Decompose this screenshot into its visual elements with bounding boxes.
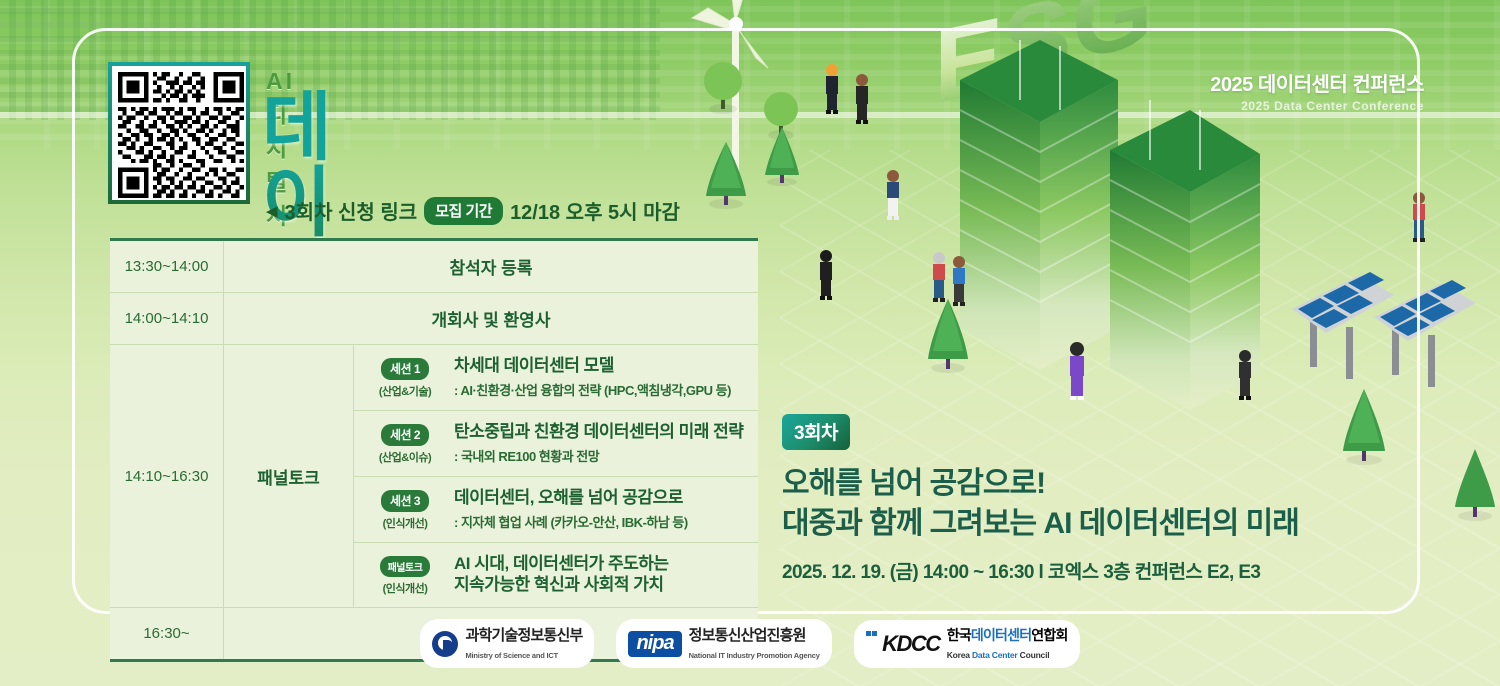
event-headline: 오해를 넘어 공감으로! 대중과 함께 그려보는 AI 데이터센터의 미래 <box>782 464 1299 543</box>
svg-text:E: E <box>934 0 1003 126</box>
session-category: (산업&이슈) <box>366 449 444 465</box>
session-item: 세션 3 (인식개선) 데이터센터, 오해를 넘어 공감으로 : 지자체 협업 … <box>354 477 758 543</box>
round-badge: 3회차 <box>782 414 850 450</box>
logo-ministry-of-science-and-ict: 과학기술정보통신부 Ministry of Science and ICT <box>420 619 594 668</box>
logo-kdcc: KDCC 한국데이터센터연합회 Korea Data Center Counci… <box>854 620 1080 668</box>
person-figure <box>946 254 972 308</box>
event-date-venue: 2025. 12. 19. (금) 14:00 ~ 16:30 l 코엑스 3층… <box>782 557 1299 584</box>
conference-title-block: 2025 데이터센터 컨퍼런스 2025 Data Center Confere… <box>1210 68 1424 113</box>
session-item: 세션 2 (산업&이슈) 탄소중립과 친환경 데이터센터의 미래 전략 : 국내… <box>354 411 758 477</box>
session-category: (인식개선) <box>366 515 444 531</box>
session-title-line2: 지속가능한 혁신과 사회적 가치 <box>454 575 669 596</box>
qr-code-image <box>118 72 244 198</box>
logo-label-en: National IT Industry Promotion Agency <box>689 651 820 660</box>
session-category: (산업&기술) <box>366 383 444 399</box>
logo-label-en: Ministry of Science and ICT <box>465 651 558 660</box>
row-kind: 패널토크 <box>224 345 354 607</box>
esg-foliage-text: E S G <box>930 0 1160 136</box>
session-item: 세션 1 (산업&기술) 차세대 데이터센터 모델 : AI·친환경·산업 융합… <box>354 345 758 411</box>
row-time: 14:10~16:30 <box>110 345 224 607</box>
session-badge: 세션 1 <box>381 358 429 380</box>
event-headline-line2: 대중과 함께 그려보는 AI 데이터센터의 미래 <box>782 504 1299 544</box>
logo-label-ko: 정보통신산업진흥원 <box>689 627 806 644</box>
person-figure <box>1232 348 1258 402</box>
table-row: 13:30~14:00 참석자 등록 <box>110 241 758 293</box>
tree-pine <box>698 140 754 210</box>
qr-code[interactable] <box>108 62 250 204</box>
session-category: (인식개선) <box>366 580 444 596</box>
sponsor-logos: 과학기술정보통신부 Ministry of Science and ICT ni… <box>0 619 1500 668</box>
session-desc: : 지자체 협업 사례 (카카오-안산, IBK-하남 등) <box>454 512 688 531</box>
event-info-block: 3회차 오해를 넘어 공감으로! 대중과 함께 그려보는 AI 데이터센터의 미… <box>782 414 1299 584</box>
row-label: 참석자 등록 <box>224 241 758 292</box>
kdcc-ko-a: 한국 <box>947 627 971 643</box>
deadline-text: 12/18 오후 5시 마감 <box>510 196 680 225</box>
session-desc: : AI·친환경·산업 융합의 전략 (HPC,액침냉각,GPU 등) <box>454 380 731 399</box>
person-figure <box>812 248 840 304</box>
session-text: 데이터센터, 오해를 넘어 공감으로 : 지자체 협업 사례 (카카오-안산, … <box>454 488 688 531</box>
application-link-row[interactable]: ◀ 3회차 신청 링크 모집 기간 12/18 오후 5시 마감 <box>266 196 680 225</box>
left-triangle-icon: ◀ <box>266 202 278 220</box>
logo-text: 과학기술정보통신부 Ministry of Science and ICT <box>465 624 582 663</box>
table-row: 14:00~14:10 개회사 및 환영사 <box>110 293 758 345</box>
session-title: 차세대 데이터센터 모델 <box>454 356 731 377</box>
kdcc-wordmark: KDCC <box>882 631 940 656</box>
session-list: 세션 1 (산업&기술) 차세대 데이터센터 모델 : AI·친환경·산업 융합… <box>354 345 758 607</box>
kdcc-ko-c: 연합회 <box>1031 627 1067 643</box>
tree-pine <box>1335 385 1393 467</box>
session-badge-col: 패널토크 (인식개선) <box>366 554 444 596</box>
schedule-table: 13:30~14:00 참석자 등록 14:00~14:10 개회사 및 환영사… <box>110 238 758 662</box>
conference-title-ko: 2025 데이터센터 컨퍼런스 <box>1210 68 1424 97</box>
session-badge: 세션 2 <box>381 424 429 446</box>
row-time: 13:30~14:00 <box>110 241 224 292</box>
session-title: AI 시대, 데이터센터가 주도하는 <box>454 554 669 575</box>
logo-text: 한국데이터센터연합회 Korea Data Center Council <box>947 625 1068 663</box>
conference-title-en: 2025 Data Center Conference <box>1210 99 1424 113</box>
person-figure <box>880 168 906 222</box>
logo-label-en: Korea Data Center Council <box>947 650 1050 660</box>
kdcc-en-b: Data Center <box>972 650 1020 660</box>
poster-root: E S G <box>0 0 1500 686</box>
kdcc-square-icon <box>872 631 877 636</box>
logo-label-ko: 과학기술정보통신부 <box>465 627 582 644</box>
session-title: 데이터센터, 오해를 넘어 공감으로 <box>454 488 688 509</box>
kdcc-wordmark-wrap: KDCC <box>866 631 940 657</box>
row-label: 개회사 및 환영사 <box>224 293 758 344</box>
application-link-label[interactable]: 3회차 신청 링크 <box>285 196 418 225</box>
person-figure <box>818 62 846 118</box>
tree-round <box>700 55 746 115</box>
kdcc-en-c: Council <box>1020 650 1050 660</box>
person-figure <box>848 72 876 128</box>
nipa-wordmark: nipa <box>628 631 681 657</box>
session-text: 차세대 데이터센터 모델 : AI·친환경·산업 융합의 전략 (HPC,액침냉… <box>454 356 731 399</box>
kdcc-ko-b: 데이터센터 <box>971 627 1031 643</box>
logo-text: 정보통신산업진흥원 National IT Industry Promotion… <box>689 624 820 663</box>
session-title: 탄소중립과 친환경 데이터센터의 미래 전략 <box>454 422 743 443</box>
person-figure <box>1062 340 1092 402</box>
row-time: 14:00~14:10 <box>110 293 224 344</box>
kdcc-square-icon <box>866 631 871 636</box>
svg-text:S: S <box>1002 0 1071 105</box>
logo-label-ko: 한국데이터센터연합회 <box>947 627 1068 643</box>
session-badge-col: 세션 1 (산업&기술) <box>366 356 444 399</box>
session-item: 패널토크 (인식개선) AI 시대, 데이터센터가 주도하는 지속가능한 혁신과… <box>354 543 758 607</box>
session-badge-col: 세션 3 (인식개선) <box>366 488 444 531</box>
tree-pine <box>1448 445 1500 523</box>
taegeuk-icon <box>432 631 458 657</box>
period-badge: 모집 기간 <box>424 197 503 225</box>
session-desc: : 국내외 RE100 현황과 전망 <box>454 446 743 465</box>
session-badge-col: 세션 2 (산업&이슈) <box>366 422 444 465</box>
session-text: 탄소중립과 친환경 데이터센터의 미래 전략 : 국내외 RE100 현황과 전… <box>454 422 743 465</box>
tree-pine <box>758 125 806 187</box>
session-badge: 세션 3 <box>381 490 429 512</box>
event-headline-line1: 오해를 넘어 공감으로! <box>782 464 1299 504</box>
person-figure <box>1406 190 1432 244</box>
kdcc-en-a: Korea <box>947 650 972 660</box>
panel-talk-row: 14:10~16:30 패널토크 세션 1 (산업&기술) 차세대 데이터센터 … <box>110 345 758 608</box>
svg-text:G: G <box>1072 0 1153 83</box>
session-text: AI 시대, 데이터센터가 주도하는 지속가능한 혁신과 사회적 가치 <box>454 554 669 595</box>
logo-nipa: nipa 정보통신산업진흥원 National IT Industry Prom… <box>616 619 831 668</box>
session-badge: 패널토크 <box>380 556 431 577</box>
